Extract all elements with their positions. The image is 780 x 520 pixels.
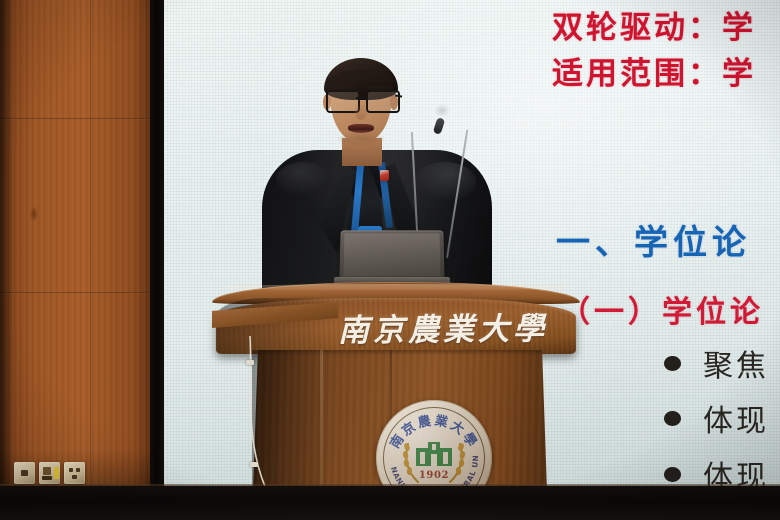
- slide-bullet-2: 体现: [664, 396, 769, 440]
- bullet-label: 体现: [703, 396, 769, 440]
- slide-blue-heading: 一、学位论: [556, 215, 751, 264]
- wall-shadow: [0, 0, 14, 520]
- bullet-dot-icon: [664, 411, 681, 426]
- wood-panel-wall: [0, 0, 152, 520]
- laptop-lid: [339, 230, 444, 280]
- wall-seam: [0, 118, 152, 120]
- podium-inscription: 南京農業大學: [338, 302, 562, 350]
- wall-plate-group: [14, 462, 85, 484]
- cable-clip: [246, 360, 254, 365]
- power-socket-plate: [64, 462, 85, 484]
- wall-seam: [0, 292, 152, 294]
- socket-hole-icon: [72, 475, 77, 479]
- socket-hole-icon: [76, 468, 80, 472]
- chin-shadow: [336, 132, 386, 146]
- laptop-lid-inner: [344, 233, 441, 276]
- foreground-stage-band: [0, 486, 780, 520]
- shoulder-highlight-left: [276, 162, 330, 196]
- jack-hole-icon: [43, 467, 51, 475]
- jack-hole-icon: [42, 476, 52, 480]
- nose: [355, 102, 367, 120]
- bullet-dot-icon: [664, 467, 681, 482]
- slide-red-line-1: 双轮驱动：学: [552, 2, 756, 47]
- wall-seam-vertical: [90, 0, 92, 520]
- yellow-label: [54, 467, 59, 479]
- cable-clip: [250, 462, 258, 467]
- glasses-bridge: [356, 97, 368, 99]
- wood-knot: [30, 206, 38, 222]
- socket-hole-icon: [69, 468, 73, 472]
- bullet-dot-icon: [664, 356, 681, 371]
- jack-hole-icon: [21, 470, 28, 476]
- data-jack-plate: [14, 462, 35, 484]
- bullet-label: 聚焦: [703, 341, 769, 385]
- badge-pin-icon: [380, 170, 389, 181]
- slide-red-line-2: 适用范围：学: [552, 48, 756, 93]
- network-jack-plate: [39, 462, 60, 484]
- presentation-photo: 双轮驱动：学 适用范围：学 一、学位论 （一）学位论 聚焦 体现 体现: [0, 0, 780, 520]
- slide-red-subheading: （一）学位论: [560, 287, 764, 331]
- podium-top-highlight: [222, 284, 570, 291]
- shoulder-highlight-right: [414, 162, 476, 202]
- slide-bullet-1: 聚焦: [664, 341, 769, 385]
